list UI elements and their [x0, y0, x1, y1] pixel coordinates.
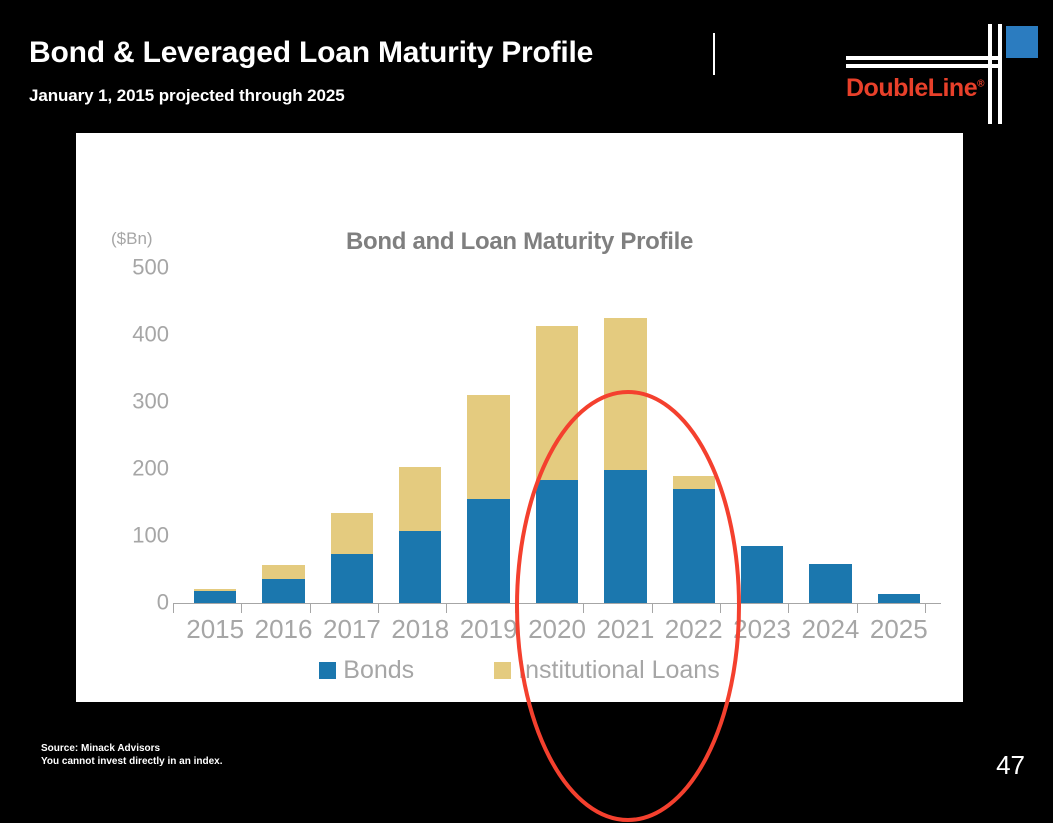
bar-segment-bonds [878, 594, 920, 603]
x-axis-tick [310, 604, 311, 613]
x-axis-tick [652, 604, 653, 613]
bar-2022 [673, 476, 715, 603]
x-tick-label: 2019 [460, 614, 518, 645]
bar-segment-bonds [262, 579, 304, 603]
logo-line-horizontal-top [846, 56, 998, 60]
x-axis-tick [857, 604, 858, 613]
bar-segment-bonds [536, 480, 578, 603]
x-axis-tick [788, 604, 789, 613]
legend-item: Institutional Loans [494, 656, 720, 685]
bar-2023 [741, 546, 783, 603]
logo-line-vertical-left [988, 24, 992, 124]
x-tick-label: 2022 [665, 614, 723, 645]
bar-segment-bonds [194, 591, 236, 603]
logo-line-horizontal-bottom [846, 64, 998, 68]
x-tick-label: 2020 [528, 614, 586, 645]
doubleline-logo: DoubleLine® [840, 18, 1030, 118]
x-tick-label: 2018 [391, 614, 449, 645]
page-subtitle: January 1, 2015 projected through 2025 [29, 86, 345, 106]
bar-2025 [878, 594, 920, 603]
x-axis-tick [173, 604, 174, 613]
x-tick-label: 2015 [186, 614, 244, 645]
registered-trademark-icon: ® [977, 79, 984, 90]
y-tick-label: 0 [157, 589, 169, 615]
bar-2016 [262, 565, 304, 603]
y-tick-label: 400 [132, 321, 169, 347]
text-cursor [713, 33, 715, 75]
legend-swatch-icon [494, 662, 511, 679]
x-axis-tick [515, 604, 516, 613]
x-axis-tick [583, 604, 584, 613]
x-tick-label: 2025 [870, 614, 928, 645]
x-tick-label: 2024 [802, 614, 860, 645]
x-tick-label: 2016 [255, 614, 313, 645]
bar-segment-loans [331, 513, 373, 554]
y-tick-label: 500 [132, 254, 169, 280]
chart-panel: ($Bn) Bond and Loan Maturity Profile 010… [76, 133, 963, 702]
x-axis-tick [720, 604, 721, 613]
bar-2024 [809, 564, 851, 603]
bar-segment-bonds [673, 489, 715, 603]
bar-segment-loans [262, 565, 304, 579]
y-tick-label: 200 [132, 455, 169, 481]
x-axis-line [173, 603, 941, 604]
bar-2020 [536, 326, 578, 603]
bar-2018 [399, 467, 441, 603]
bar-segment-loans [467, 395, 509, 499]
plot-area: 0100200300400500 20152016201720182019202… [181, 268, 933, 603]
logo-wordmark: DoubleLine® [846, 74, 984, 103]
bar-2021 [604, 318, 646, 603]
disclaimer-line: You cannot invest directly in an index. [41, 755, 223, 768]
logo-line-vertical-right [998, 24, 1002, 124]
y-tick-label: 300 [132, 388, 169, 414]
bar-segment-loans [604, 318, 646, 469]
page-number: 47 [996, 750, 1025, 781]
x-axis-tick [378, 604, 379, 613]
bar-2017 [331, 513, 373, 603]
legend-swatch-icon [319, 662, 336, 679]
legend-label: Institutional Loans [518, 656, 720, 685]
logo-blue-square [1006, 26, 1038, 58]
page-title: Bond & Leveraged Loan Maturity Profile [29, 36, 593, 70]
bar-segment-loans [673, 476, 715, 489]
bar-2019 [467, 395, 509, 603]
source-line: Source: Minack Advisors [41, 742, 223, 755]
x-tick-label: 2021 [596, 614, 654, 645]
y-tick-label: 100 [132, 522, 169, 548]
bar-segment-loans [399, 467, 441, 531]
bar-segment-bonds [809, 564, 851, 603]
x-axis-tick [446, 604, 447, 613]
legend-label: Bonds [343, 656, 414, 685]
x-tick-label: 2017 [323, 614, 381, 645]
bar-segment-bonds [741, 546, 783, 603]
footer-source: Source: Minack Advisors You cannot inves… [41, 742, 223, 768]
bar-segment-bonds [399, 531, 441, 603]
logo-wordmark-text: DoubleLine [846, 74, 977, 102]
x-axis-tick [925, 604, 926, 613]
bar-segment-bonds [467, 499, 509, 603]
bar-2015 [194, 589, 236, 603]
chart-title: Bond and Loan Maturity Profile [76, 228, 963, 256]
legend-item: Bonds [319, 656, 414, 685]
bar-segment-loans [536, 326, 578, 480]
bar-segment-bonds [604, 470, 646, 603]
chart-legend: BondsInstitutional Loans [76, 656, 963, 685]
bar-segment-bonds [331, 554, 373, 603]
x-tick-label: 2023 [733, 614, 791, 645]
x-axis-tick [241, 604, 242, 613]
